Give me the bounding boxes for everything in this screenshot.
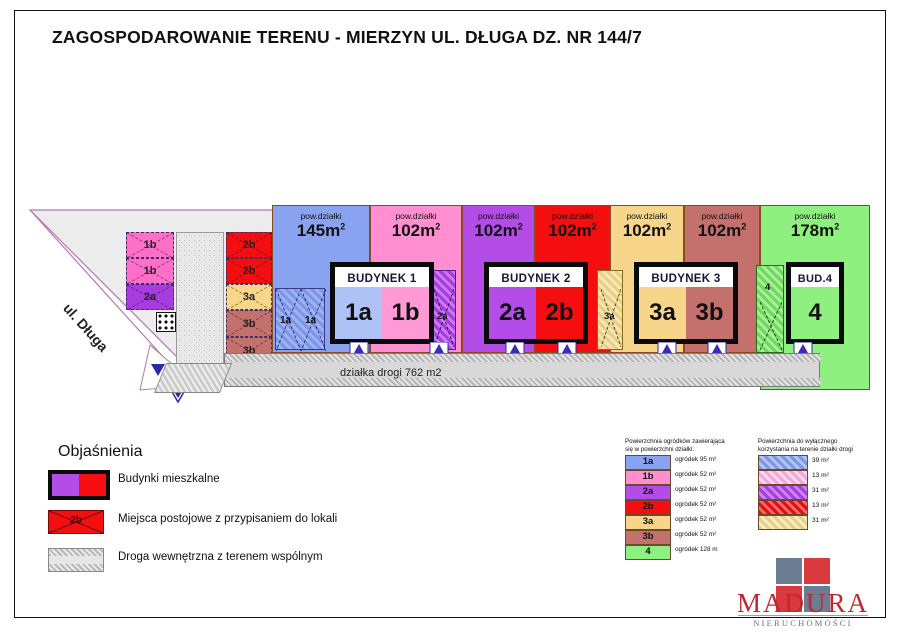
building-3[interactable]: BUDYNEK 3 3a 3b (634, 262, 738, 344)
garden-text: ogródek 52 m² (675, 486, 716, 493)
garden-area-table: Powierzchnia ogródków zawierająca się w … (625, 438, 755, 559)
building-name: BUDYNEK 2 (489, 273, 583, 285)
garden-text: ogródek 52 m² (675, 531, 716, 538)
unit-3b[interactable]: 3b (686, 287, 733, 339)
exclusive-table-header: Powierzchnia do wyłącznego korzystania n… (758, 438, 886, 454)
exclusive-text: 39 m² (812, 457, 829, 464)
legend-label: Budynki mieszkalne (118, 473, 220, 485)
parking-space-1b[interactable]: 1b (126, 258, 174, 284)
unit-1a[interactable]: 1a (335, 287, 382, 339)
building-4[interactable]: BUD.4 4 (786, 262, 844, 344)
legend-swatch-label: 2b (49, 515, 103, 526)
unit-3a[interactable]: 3a (639, 287, 686, 339)
waste-bin-icon (156, 312, 176, 332)
garden-text: ogródek 52 m² (675, 471, 716, 478)
unit-2b[interactable]: 2b (536, 287, 583, 339)
exclusive-text: 31 m² (812, 517, 829, 524)
legend-swatch-parking: 2b (48, 510, 104, 534)
plot-caption: pow.działki (536, 212, 609, 221)
parking-space-2b[interactable]: 2b (226, 258, 272, 284)
exclusive-text: 13 m² (812, 502, 829, 509)
parking-label: 2a (437, 311, 448, 322)
garden-row: 4 ogródek 128 m (625, 545, 755, 559)
cobble-apron (154, 363, 232, 393)
unit-4[interactable]: 4 (791, 287, 839, 339)
garden-row: 1a ogródek 95 m² (625, 455, 755, 469)
logo-square-2 (804, 558, 830, 584)
exclusive-row: 31 m² (758, 485, 888, 499)
parking-label: 4 (765, 282, 770, 293)
parking-group-left-a: 1b 1b 2a (126, 232, 174, 310)
garden-swatch: 2b (625, 500, 671, 515)
exclusive-row: 39 m² (758, 455, 888, 469)
parking-strip-1a[interactable]: 1a 1a (275, 288, 325, 350)
garden-swatch: 3a (625, 515, 671, 530)
exclusive-swatch (758, 485, 808, 500)
road-label: działka drogi 762 m2 (340, 367, 442, 379)
garden-row: 3a ogródek 52 m² (625, 515, 755, 529)
common-gravel-area (176, 232, 224, 364)
parking-space-2a[interactable]: 2a (126, 284, 174, 310)
parking-label: 3a (604, 311, 615, 322)
parking-space-3a[interactable]: 3a (226, 284, 272, 310)
garden-swatch: 2a (625, 485, 671, 500)
plot-caption: pow.działki (761, 212, 869, 221)
exclusive-swatch (758, 500, 808, 515)
parking-space-1b[interactable]: 1b (126, 232, 174, 258)
logo-tagline: NIERUCHOMOŚCI (728, 618, 878, 628)
plot-caption: pow.działki (273, 212, 369, 221)
garden-swatch: 1b (625, 470, 671, 485)
plot-area: 178m2 (761, 222, 869, 239)
legend-heading: Objaśnienia (58, 443, 143, 461)
garden-text: ogródek 95 m² (675, 456, 716, 463)
building-name: BUDYNEK 3 (639, 273, 733, 285)
exclusive-row: 13 m² (758, 470, 888, 484)
garden-row: 1b ogródek 52 m² (625, 470, 755, 484)
exclusive-swatch (758, 470, 808, 485)
internal-road[interactable] (224, 353, 820, 387)
exclusive-swatch (758, 455, 808, 470)
exclusive-text: 31 m² (812, 487, 829, 494)
exclusive-use-table: Powierzchnia do wyłącznego korzystania n… (758, 438, 888, 529)
garden-table-header: Powierzchnia ogródków zawierająca się w … (625, 438, 753, 454)
garden-row: 3b ogródek 52 m² (625, 530, 755, 544)
plot-caption: pow.działki (611, 212, 683, 221)
building-name: BUD.4 (791, 273, 839, 285)
parking-strip-4[interactable]: 4 (756, 265, 784, 353)
logo-square-1 (776, 558, 802, 584)
plot-caption: pow.działki (463, 212, 534, 221)
exclusive-swatch (758, 515, 808, 530)
legend-label: Droga wewnętrzna z terenem wspólnym (118, 551, 323, 563)
plot-area: 102m2 (371, 222, 461, 239)
exclusive-text: 13 m² (812, 472, 829, 479)
garden-row: 2b ogródek 52 m² (625, 500, 755, 514)
plot-area: 102m2 (611, 222, 683, 239)
garden-text: ogródek 128 m (675, 546, 718, 553)
parking-space-3b[interactable]: 3b (226, 310, 272, 337)
logo-wordmark: MADURA (728, 590, 878, 617)
building-1[interactable]: BUDYNEK 1 1a 1b (330, 262, 434, 344)
company-logo: MADURA NIERUCHOMOŚCI (728, 558, 878, 630)
legend-item-inner-road: Droga wewnętrzna z terenem wspólnym (48, 548, 104, 572)
parking-group-left-b: 2b 2b 3a 3b 3b (226, 232, 272, 364)
plot-area: 102m2 (463, 222, 534, 239)
legend-swatch-inner-road (48, 548, 104, 572)
site-plan-canvas: ul. Długa 1b 1b 2a śm 2b 2b (0, 0, 900, 636)
garden-swatch: 1a (625, 455, 671, 470)
parking-strip-3a[interactable]: 3a (597, 270, 623, 350)
plot-area: 102m2 (685, 222, 759, 239)
plot-caption: pow.działki (371, 212, 461, 221)
building-name: BUDYNEK 1 (335, 273, 429, 285)
unit-1b[interactable]: 1b (382, 287, 429, 339)
legend-item-parking: 2b Miejsca postojowe z przypisaniem do l… (48, 510, 104, 534)
garden-text: ogródek 52 m² (675, 501, 716, 508)
plot-area: 102m2 (536, 222, 609, 239)
legend-swatch-buildings (48, 470, 110, 500)
plot-caption: pow.działki (685, 212, 759, 221)
parking-space-2b[interactable]: 2b (226, 232, 272, 258)
plot-area: 145m2 (273, 222, 369, 239)
building-2[interactable]: BUDYNEK 2 2a 2b (484, 262, 588, 344)
parking-label: 1a (305, 315, 316, 326)
garden-swatch: 4 (625, 545, 671, 560)
parking-label: 1a (280, 315, 291, 326)
unit-2a[interactable]: 2a (489, 287, 536, 339)
garden-swatch: 3b (625, 530, 671, 545)
garden-text: ogródek 52 m² (675, 516, 716, 523)
exclusive-row: 13 m² (758, 500, 888, 514)
exclusive-row: 31 m² (758, 515, 888, 529)
garden-row: 2a ogródek 52 m² (625, 485, 755, 499)
legend-label: Miejsca postojowe z przypisaniem do loka… (118, 513, 337, 525)
